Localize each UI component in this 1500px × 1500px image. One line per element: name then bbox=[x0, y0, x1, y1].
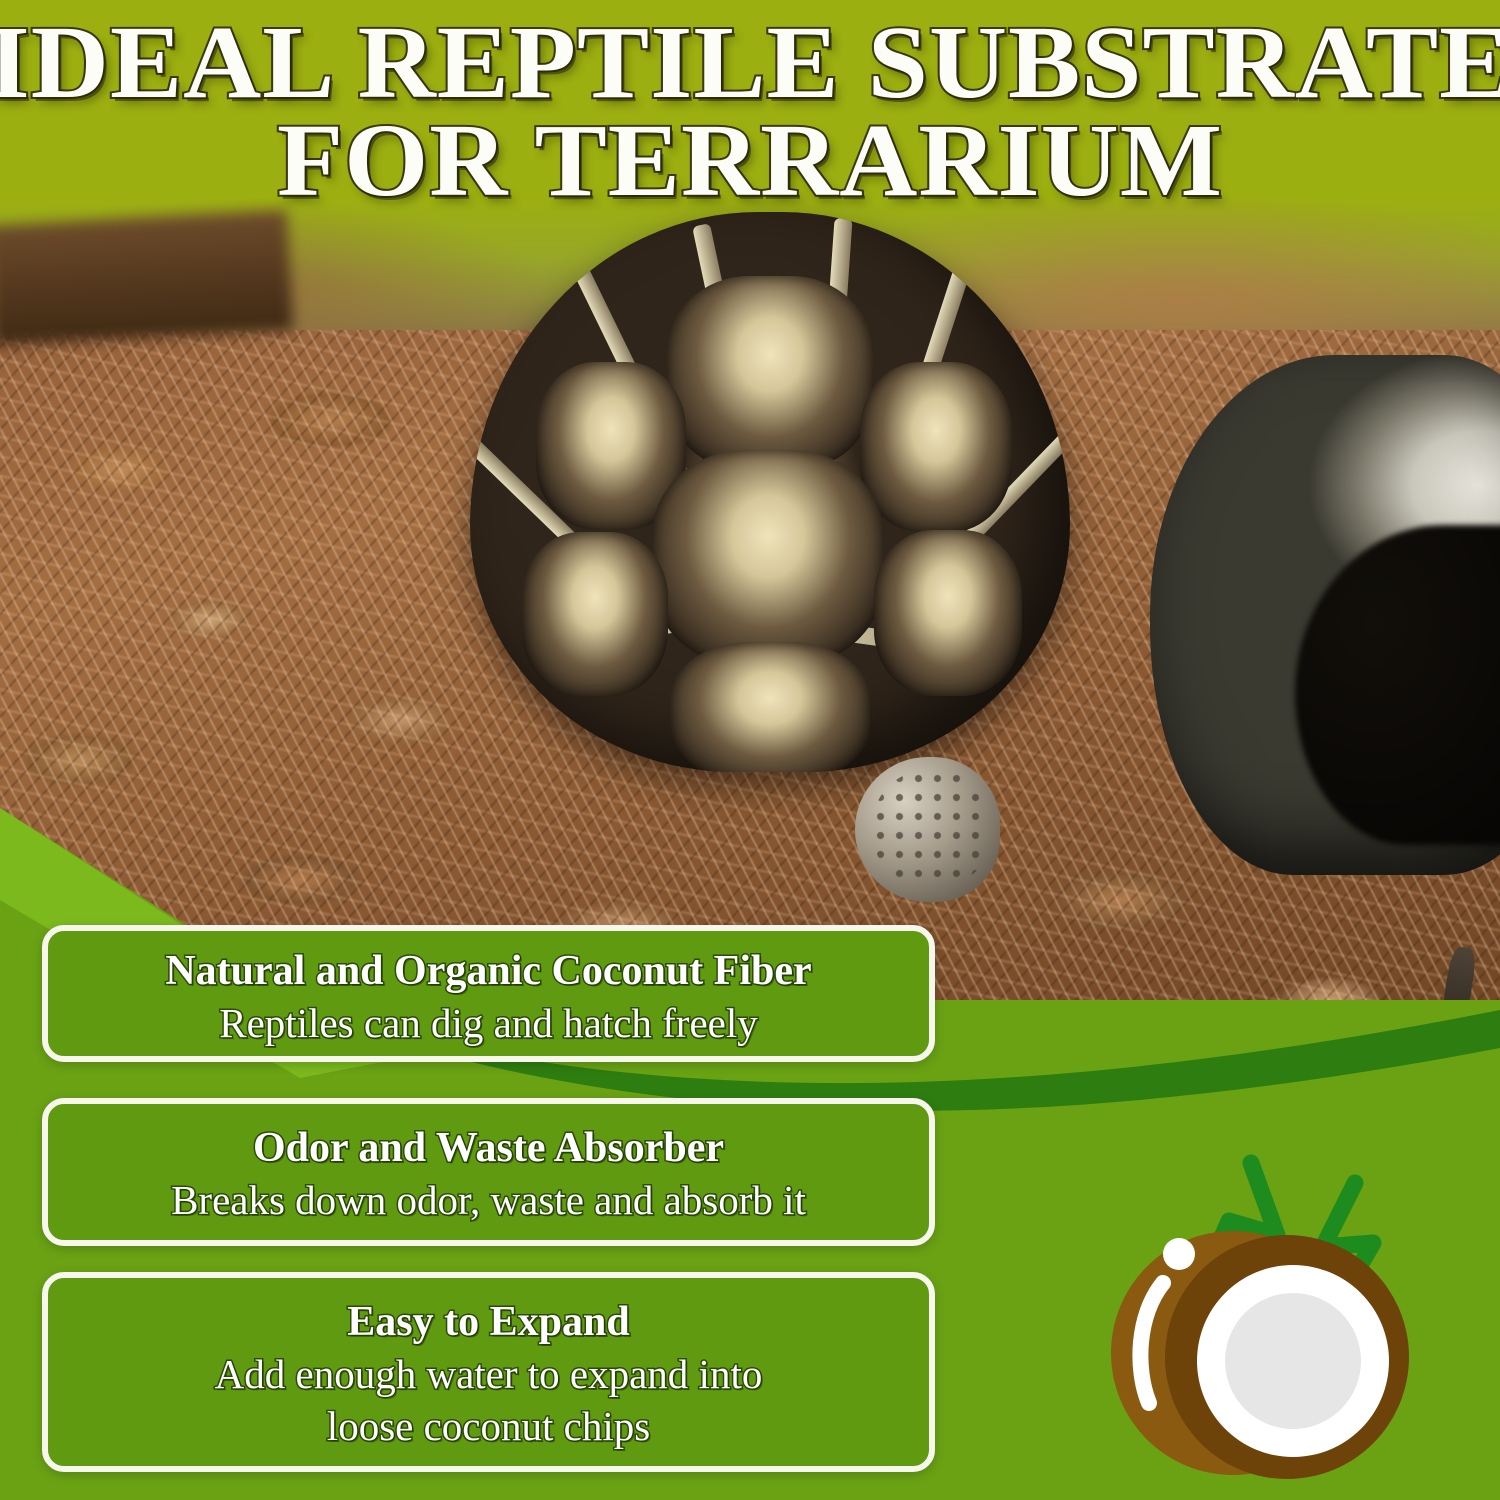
tortoise-front-leg bbox=[855, 757, 1000, 902]
product-infographic: IDEAL REPTILE SUBSTRATE FOR TERRARIUM Na… bbox=[0, 0, 1500, 1500]
tortoise bbox=[470, 212, 1070, 772]
feature-title: Natural and Organic Coconut Fiber bbox=[48, 945, 929, 997]
coconut-highlight-dot bbox=[1163, 1238, 1195, 1270]
feature-subtitle-line-1: Add enough water to expand into bbox=[48, 1348, 929, 1400]
feature-title: Easy to Expand bbox=[48, 1296, 929, 1348]
page-title: IDEAL REPTILE SUBSTRATE FOR TERRARIUM bbox=[0, 14, 1500, 210]
feature-box-natural-organic: Natural and Organic Coconut Fiber Reptil… bbox=[42, 925, 935, 1062]
feature-subtitle: Breaks down odor, waste and absorb it bbox=[48, 1174, 929, 1226]
feature-subtitle-line-2: loose coconut chips bbox=[48, 1400, 929, 1452]
background-log bbox=[0, 210, 293, 346]
feature-box-easy-to-expand: Easy to Expand Add enough water to expan… bbox=[42, 1272, 935, 1472]
title-line-2: FOR TERRARIUM bbox=[0, 112, 1500, 210]
tortoise-shell bbox=[470, 212, 1070, 772]
coconut-icon bbox=[1055, 1125, 1455, 1485]
feature-subtitle: Reptiles can dig and hatch freely bbox=[48, 997, 929, 1049]
feature-box-odor-absorber: Odor and Waste Absorber Breaks down odor… bbox=[42, 1098, 935, 1246]
title-line-1: IDEAL REPTILE SUBSTRATE bbox=[0, 14, 1500, 112]
coconut-core bbox=[1225, 1293, 1361, 1429]
feature-title: Odor and Waste Absorber bbox=[48, 1122, 929, 1174]
